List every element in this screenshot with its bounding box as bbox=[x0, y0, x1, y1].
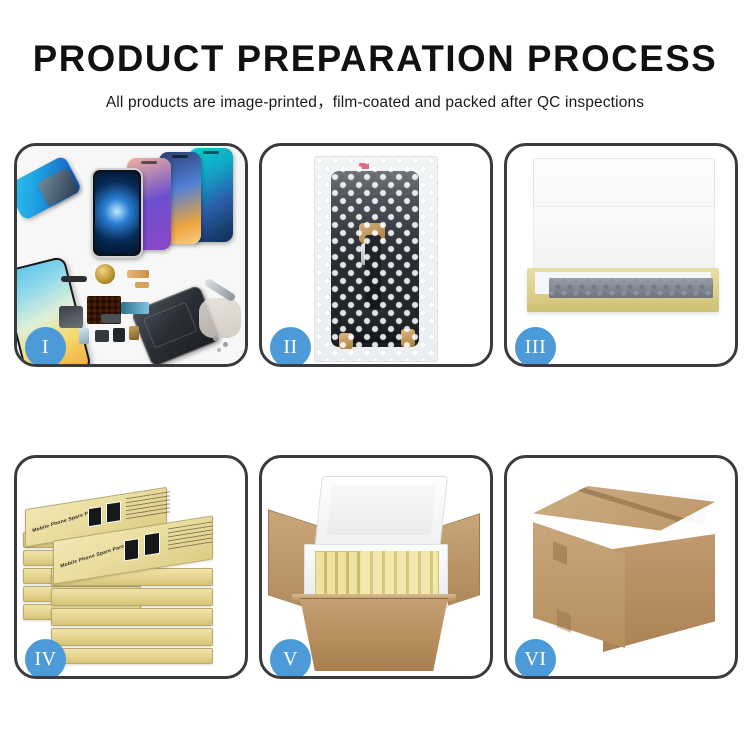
step-badge-3: III bbox=[515, 327, 556, 367]
hand-holding-part bbox=[199, 298, 241, 338]
carton-seam bbox=[552, 478, 697, 527]
tray-interior bbox=[535, 272, 711, 294]
spec-text-lines bbox=[126, 491, 170, 520]
product-window bbox=[106, 501, 121, 523]
foam-padding bbox=[549, 278, 713, 298]
foam-lid bbox=[314, 476, 448, 550]
carton-front-face bbox=[533, 522, 625, 648]
speaker-part bbox=[95, 264, 115, 284]
connector-part bbox=[101, 314, 121, 323]
product-window bbox=[144, 532, 160, 557]
step-badge-1: I bbox=[25, 327, 66, 367]
flex-cable-part-c bbox=[59, 306, 83, 328]
sim-tray-part bbox=[79, 328, 89, 344]
page-title: PRODUCT PREPARATION PROCESS bbox=[4, 40, 747, 77]
box-slab bbox=[51, 648, 213, 664]
page-subtitle: All products are image-printed，film-coat… bbox=[0, 90, 750, 112]
bubble-wrap-bag bbox=[314, 156, 438, 362]
box-back-wall bbox=[533, 206, 715, 272]
box-stack: Mobile Phone Spare Parts Mobile Phone Sp… bbox=[23, 476, 245, 666]
product-window bbox=[88, 506, 102, 527]
page-header: PRODUCT PREPARATION PROCESS All products… bbox=[0, 0, 750, 112]
step-badge-5: V bbox=[270, 639, 311, 679]
carton-body bbox=[300, 598, 448, 671]
packed-boxes-row bbox=[361, 551, 437, 597]
step-panel-4: Mobile Phone Spare Parts Mobile Phone Sp… bbox=[14, 455, 248, 679]
foam-lid-inner bbox=[327, 485, 436, 535]
notch-icon bbox=[172, 155, 188, 158]
notch-icon bbox=[141, 161, 157, 164]
step-badge-4: IV bbox=[25, 639, 66, 679]
spec-text-lines bbox=[168, 521, 212, 550]
screw-part bbox=[213, 336, 218, 341]
bubble-texture bbox=[315, 157, 437, 361]
step-panel-2: II bbox=[259, 143, 493, 367]
flex-cable-part-b bbox=[135, 282, 149, 288]
screw-part bbox=[217, 348, 221, 352]
step-panel-6: VI bbox=[504, 455, 738, 679]
wallpaper-graphic bbox=[95, 172, 139, 254]
flex-cable-part-a bbox=[127, 270, 149, 278]
shipping-carton bbox=[533, 486, 715, 658]
battery-connector-part bbox=[113, 328, 125, 342]
step-panel-3: III bbox=[504, 143, 738, 367]
phone-front-glass bbox=[91, 168, 143, 258]
step-badge-2: II bbox=[270, 327, 311, 367]
earpiece-part bbox=[61, 276, 87, 282]
camera-module-part bbox=[95, 330, 109, 342]
flex-cable-part-d bbox=[121, 302, 149, 314]
box-slab bbox=[51, 588, 213, 606]
box-tray bbox=[527, 268, 719, 312]
process-steps-grid: I II bbox=[14, 143, 736, 689]
box-brand-label: Mobile Phone Spare Parts bbox=[60, 543, 127, 570]
screw-part bbox=[223, 342, 228, 347]
box-slab bbox=[51, 608, 213, 626]
vibrator-part bbox=[129, 326, 139, 340]
product-preparation-page: PRODUCT PREPARATION PROCESS All products… bbox=[0, 0, 750, 750]
product-window bbox=[124, 538, 139, 561]
step-panel-1: I bbox=[14, 143, 248, 367]
notch-icon bbox=[203, 151, 219, 154]
step-badge-6: VI bbox=[515, 639, 556, 679]
step-panel-5: V bbox=[259, 455, 493, 679]
box-slab bbox=[51, 628, 213, 646]
